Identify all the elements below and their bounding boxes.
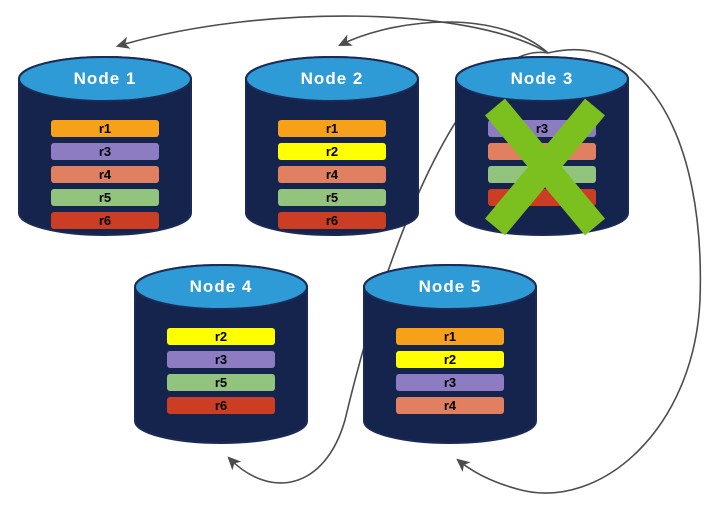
arrow-node3-to-node2: [340, 22, 548, 53]
node-4[interactable]: Node 4r2r3r5r6: [134, 265, 308, 443]
record-bar[interactable]: r2: [396, 351, 504, 368]
node-title: Node 4: [134, 277, 308, 297]
record-bar[interactable]: r3: [167, 351, 275, 368]
node-title: Node 5: [363, 277, 537, 297]
record-bar[interactable]: r3: [396, 374, 504, 391]
node-title: Node 2: [245, 69, 419, 89]
node-2[interactable]: Node 2r1r2r4r5r6: [245, 57, 419, 235]
node-title: Node 3: [455, 69, 629, 89]
record-bar[interactable]: r1: [396, 328, 504, 345]
node-5[interactable]: Node 5r1r2r3r4: [363, 265, 537, 443]
arrow-node3-to-node1: [118, 16, 548, 53]
record-bar[interactable]: r6: [51, 212, 159, 229]
record-bar[interactable]: r6: [167, 397, 275, 414]
record-bar[interactable]: r3: [51, 143, 159, 160]
record-bar[interactable]: r3: [488, 120, 596, 137]
node-title: Node 1: [18, 69, 192, 89]
record-bar[interactable]: r4: [51, 166, 159, 183]
record-list: r1r2r4r5r6: [245, 120, 419, 235]
record-bar[interactable]: [488, 189, 596, 206]
record-bar[interactable]: r4: [396, 397, 504, 414]
record-bar[interactable]: r2: [167, 328, 275, 345]
record-list: r1r2r3r4: [363, 328, 537, 420]
record-bar[interactable]: [488, 143, 596, 160]
record-bar[interactable]: r6: [278, 212, 386, 229]
record-bar[interactable]: r5: [167, 374, 275, 391]
record-bar[interactable]: r1: [278, 120, 386, 137]
record-bar[interactable]: [488, 166, 596, 183]
record-bar[interactable]: r2: [278, 143, 386, 160]
record-list: r3: [455, 120, 629, 212]
record-bar[interactable]: r1: [51, 120, 159, 137]
record-list: r2r3r5r6: [134, 328, 308, 420]
record-bar[interactable]: r4: [278, 166, 386, 183]
record-list: r1r3r4r5r6: [18, 120, 192, 235]
record-bar[interactable]: r5: [51, 189, 159, 206]
diagram-canvas: Node 1r1r3r4r5r6Node 2r1r2r4r5r6Node 3r3…: [0, 0, 708, 508]
record-bar[interactable]: r5: [278, 189, 386, 206]
node-3[interactable]: Node 3r3: [455, 57, 629, 235]
node-1[interactable]: Node 1r1r3r4r5r6: [18, 57, 192, 235]
